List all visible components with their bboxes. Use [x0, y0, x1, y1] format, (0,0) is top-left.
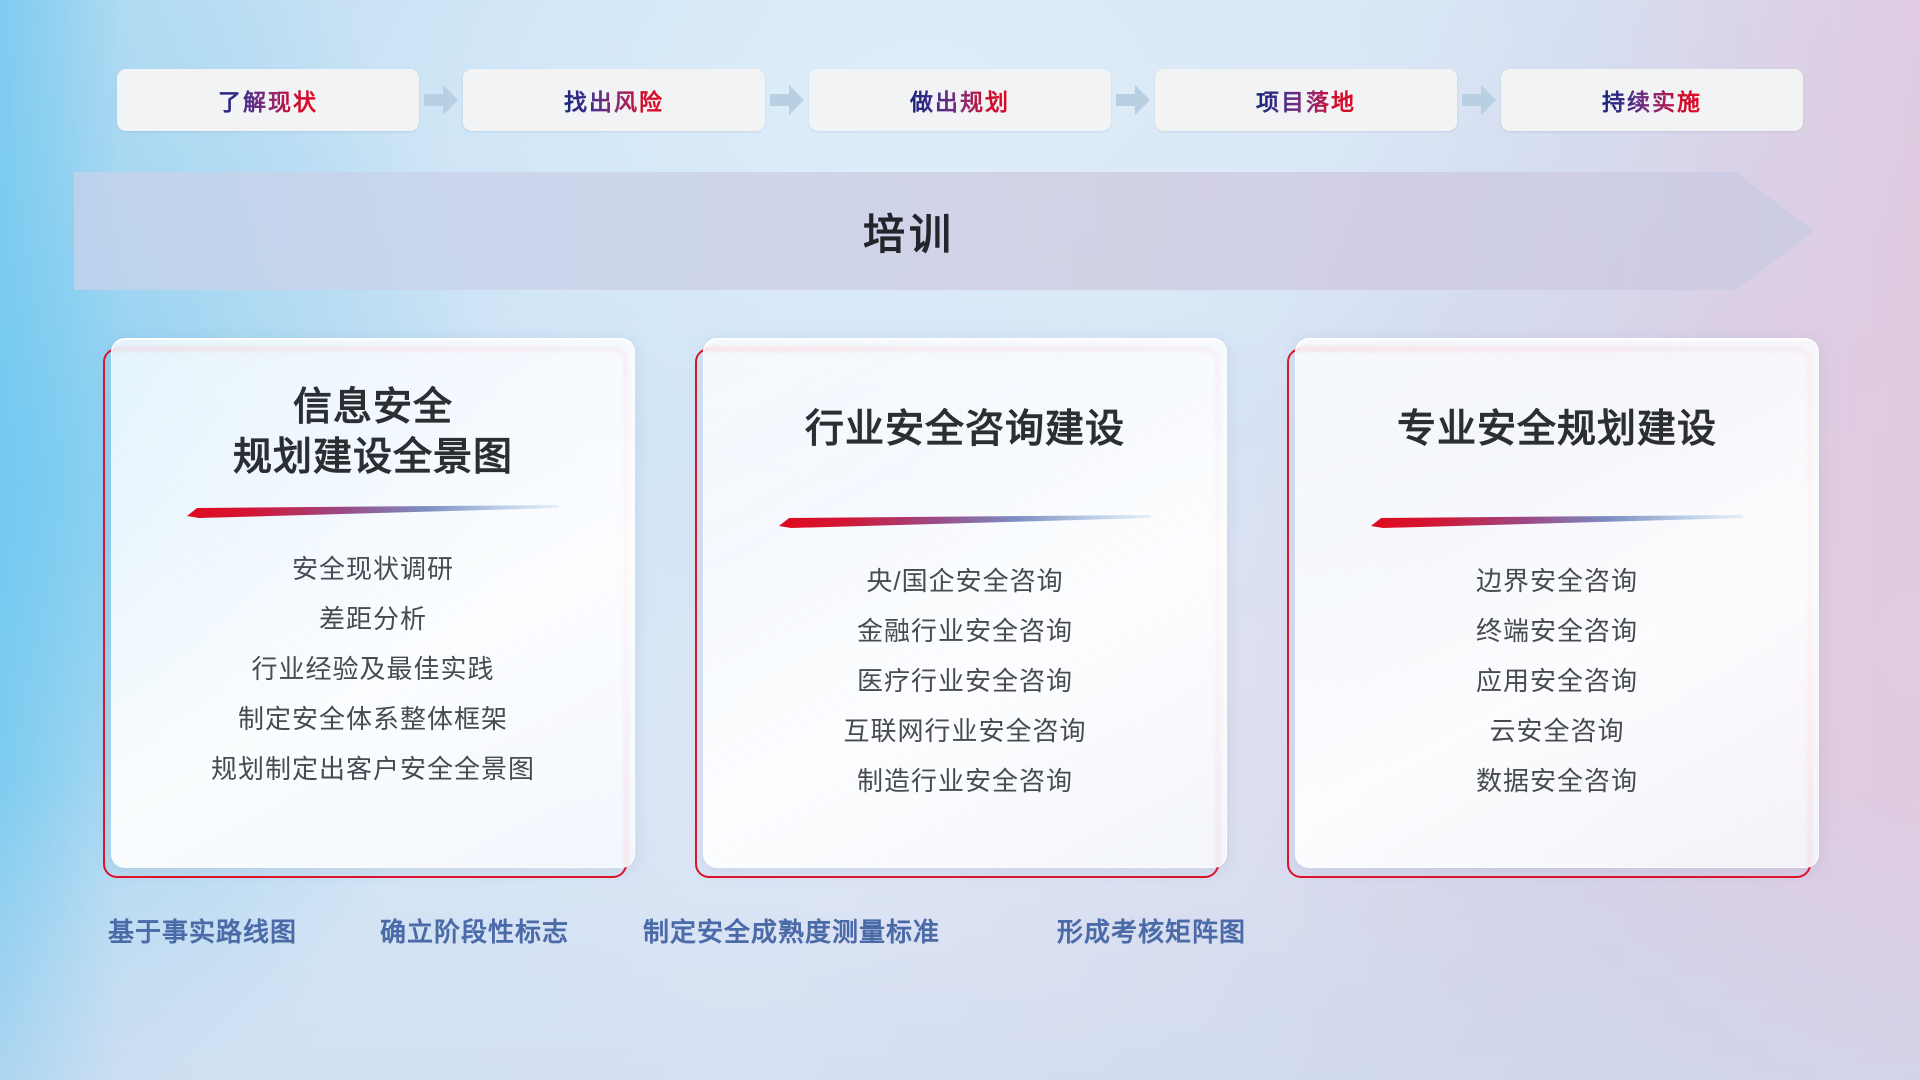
- card-row: 信息安全 规划建设全景图安全现状调研差距分析行业经验及最佳实践制定安全体系整体框…: [0, 338, 1920, 878]
- process-arrow-icon: [765, 69, 809, 131]
- list-item: 边界安全咨询: [1476, 560, 1638, 602]
- bottom-label-2: 确立阶段性标志: [380, 912, 569, 949]
- card-divider: [187, 505, 559, 518]
- card-body: 专业安全规划建设边界安全咨询终端安全咨询应用安全咨询云安全咨询数据安全咨询: [1295, 338, 1819, 868]
- process-step-row: 了解现状找出风险做出规划项目落地持续实施: [0, 64, 1920, 136]
- process-step-label: 找出风险: [564, 83, 664, 117]
- service-card-3[interactable]: 专业安全规划建设边界安全咨询终端安全咨询应用安全咨询云安全咨询数据安全咨询: [1287, 338, 1817, 878]
- card-body: 行业安全咨询建设央/国企安全咨询金融行业安全咨询医疗行业安全咨询互联网行业安全咨…: [703, 338, 1227, 868]
- list-item: 数据安全咨询: [1476, 760, 1638, 802]
- card-item-list: 安全现状调研差距分析行业经验及最佳实践制定安全体系整体框架规划制定出客户安全全景…: [211, 548, 535, 791]
- service-card-2[interactable]: 行业安全咨询建设央/国企安全咨询金融行业安全咨询医疗行业安全咨询互联网行业安全咨…: [695, 338, 1225, 878]
- process-step-2[interactable]: 找出风险: [463, 69, 765, 131]
- process-step-label: 做出规划: [910, 83, 1010, 117]
- list-item: 行业经验及最佳实践: [251, 648, 494, 690]
- bottom-label-3: 制定安全成熟度测量标准: [643, 912, 940, 949]
- process-step-label: 持续实施: [1602, 83, 1702, 117]
- card-body: 信息安全 规划建设全景图安全现状调研差距分析行业经验及最佳实践制定安全体系整体框…: [111, 338, 635, 868]
- list-item: 差距分析: [319, 598, 427, 640]
- process-arrow-icon: [419, 69, 463, 131]
- process-step-label: 了解现状: [218, 83, 318, 117]
- process-arrow-icon: [1457, 69, 1501, 131]
- training-banner: 培训: [74, 172, 1814, 290]
- list-item: 制定安全体系整体框架: [238, 698, 508, 740]
- card-item-list: 边界安全咨询终端安全咨询应用安全咨询云安全咨询数据安全咨询: [1476, 560, 1638, 803]
- service-card-1[interactable]: 信息安全 规划建设全景图安全现状调研差距分析行业经验及最佳实践制定安全体系整体框…: [103, 338, 633, 878]
- list-item: 医疗行业安全咨询: [857, 660, 1073, 702]
- list-item: 规划制定出客户安全全景图: [211, 748, 535, 790]
- process-step-1[interactable]: 了解现状: [117, 69, 419, 131]
- list-item: 制造行业安全咨询: [857, 760, 1073, 802]
- bottom-label-4: 形成考核矩阵图: [1057, 912, 1246, 949]
- card-divider: [779, 515, 1151, 528]
- list-item: 互联网行业安全咨询: [843, 710, 1086, 752]
- card-title: 专业安全规划建设: [1397, 405, 1717, 455]
- card-title: 行业安全咨询建设: [805, 405, 1125, 455]
- bottom-label-row: 基于事实路线图确立阶段性标志制定安全成熟度测量标准形成考核矩阵图: [0, 912, 1920, 968]
- bottom-label-1: 基于事实路线图: [108, 912, 297, 949]
- card-title: 信息安全 规划建设全景图: [233, 383, 513, 483]
- process-arrow-icon: [1111, 69, 1155, 131]
- card-item-list: 央/国企安全咨询金融行业安全咨询医疗行业安全咨询互联网行业安全咨询制造行业安全咨…: [843, 560, 1086, 803]
- list-item: 金融行业安全咨询: [857, 610, 1073, 652]
- process-step-label: 项目落地: [1256, 83, 1356, 117]
- process-step-5[interactable]: 持续实施: [1501, 69, 1803, 131]
- process-step-4[interactable]: 项目落地: [1155, 69, 1457, 131]
- list-item: 安全现状调研: [292, 548, 454, 590]
- banner-title: 培训: [74, 172, 1814, 290]
- list-item: 应用安全咨询: [1476, 660, 1638, 702]
- list-item: 央/国企安全咨询: [866, 560, 1063, 602]
- card-divider: [1371, 515, 1743, 528]
- list-item: 终端安全咨询: [1476, 610, 1638, 652]
- list-item: 云安全咨询: [1489, 710, 1624, 752]
- process-step-3[interactable]: 做出规划: [809, 69, 1111, 131]
